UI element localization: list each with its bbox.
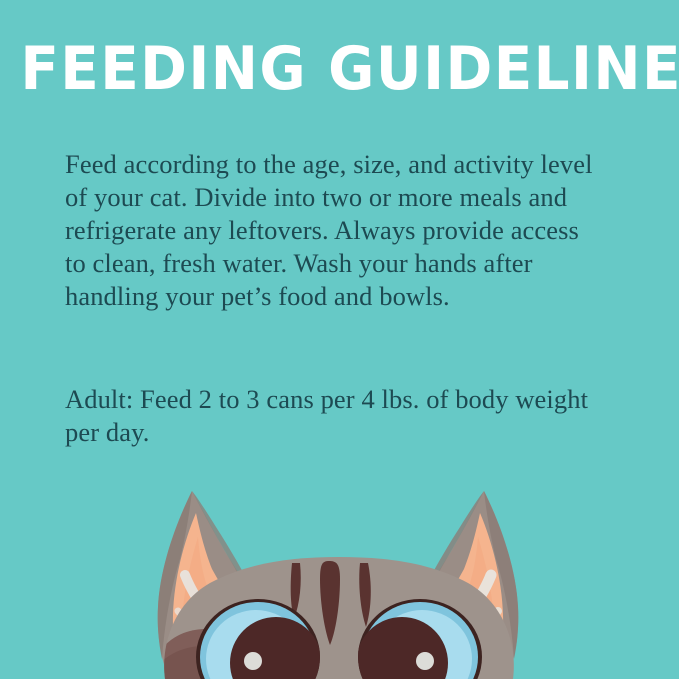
feeding-guidelines-panel: FEEDING GUIDELINES Feed according to the… xyxy=(0,0,679,679)
feeding-instructions-paragraph: Feed according to the age, size, and act… xyxy=(65,148,601,313)
body-copy: Feed according to the age, size, and act… xyxy=(65,148,601,449)
adult-portion-paragraph: Adult: Feed 2 to 3 cans per 4 lbs. of bo… xyxy=(65,383,601,449)
cat-illustration xyxy=(0,479,679,679)
cat-left-eye-highlight xyxy=(244,652,262,670)
cat-right-eye-highlight xyxy=(416,652,434,670)
page-title: FEEDING GUIDELINES xyxy=(20,38,658,101)
